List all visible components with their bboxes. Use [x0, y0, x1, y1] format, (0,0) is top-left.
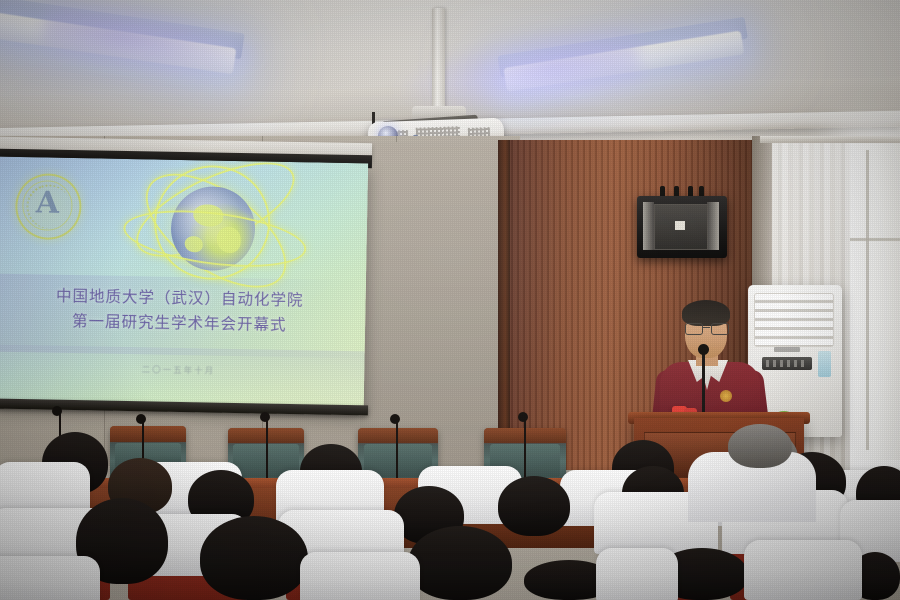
- presenter: [652, 300, 768, 430]
- wood-trim: [498, 140, 510, 472]
- table-microphone-icon: [518, 412, 528, 422]
- lectern-microphone-stand: [702, 350, 705, 412]
- table-microphone-icon: [136, 414, 146, 424]
- chair-cover: [300, 552, 420, 600]
- table-microphone-icon: [390, 414, 400, 424]
- presenter-emblem: [720, 390, 732, 402]
- ac-control-panel[interactable]: [762, 357, 812, 370]
- audience-head: [498, 476, 570, 536]
- chair-cover: [596, 548, 678, 600]
- table-microphone-icon: [260, 412, 270, 422]
- university-seal-icon: A: [15, 173, 82, 240]
- audience-head: [728, 424, 792, 468]
- seal-glyph: A: [33, 186, 62, 221]
- table-microphone-stem: [524, 418, 526, 478]
- window-frame-vertical: [866, 150, 869, 450]
- lectern-microphone-icon: [698, 344, 709, 355]
- window-frame-horizontal: [846, 238, 900, 241]
- projection-screen: A 中国地质大学（武汉）自动化学院 第一届研究生学术年会开幕式 二〇一五年十月: [0, 157, 368, 412]
- audience-head: [408, 526, 512, 600]
- ac-badge: [818, 351, 831, 377]
- presentation-slide: A 中国地质大学（武汉）自动化学院 第一届研究生学术年会开幕式 二〇一五年十月: [0, 157, 368, 412]
- wall-speaker-icon: [637, 196, 727, 258]
- curtain-rod: [760, 136, 900, 143]
- chair-cover: [744, 540, 862, 600]
- table-microphone-stem: [396, 420, 398, 478]
- conference-hall-photo: A 中国地质大学（武汉）自动化学院 第一届研究生学术年会开幕式 二〇一五年十月: [0, 0, 900, 600]
- table-microphone-stem: [266, 418, 268, 478]
- glasses-icon: [685, 323, 727, 333]
- projector-mount-pole: [432, 8, 445, 112]
- chair-cover: [0, 556, 100, 600]
- slide-title: 中国地质大学（武汉）自动化学院 第一届研究生学术年会开幕式: [0, 283, 366, 340]
- window-pane: [846, 140, 900, 460]
- audience-head: [200, 516, 308, 600]
- table-microphone-icon: [52, 406, 62, 416]
